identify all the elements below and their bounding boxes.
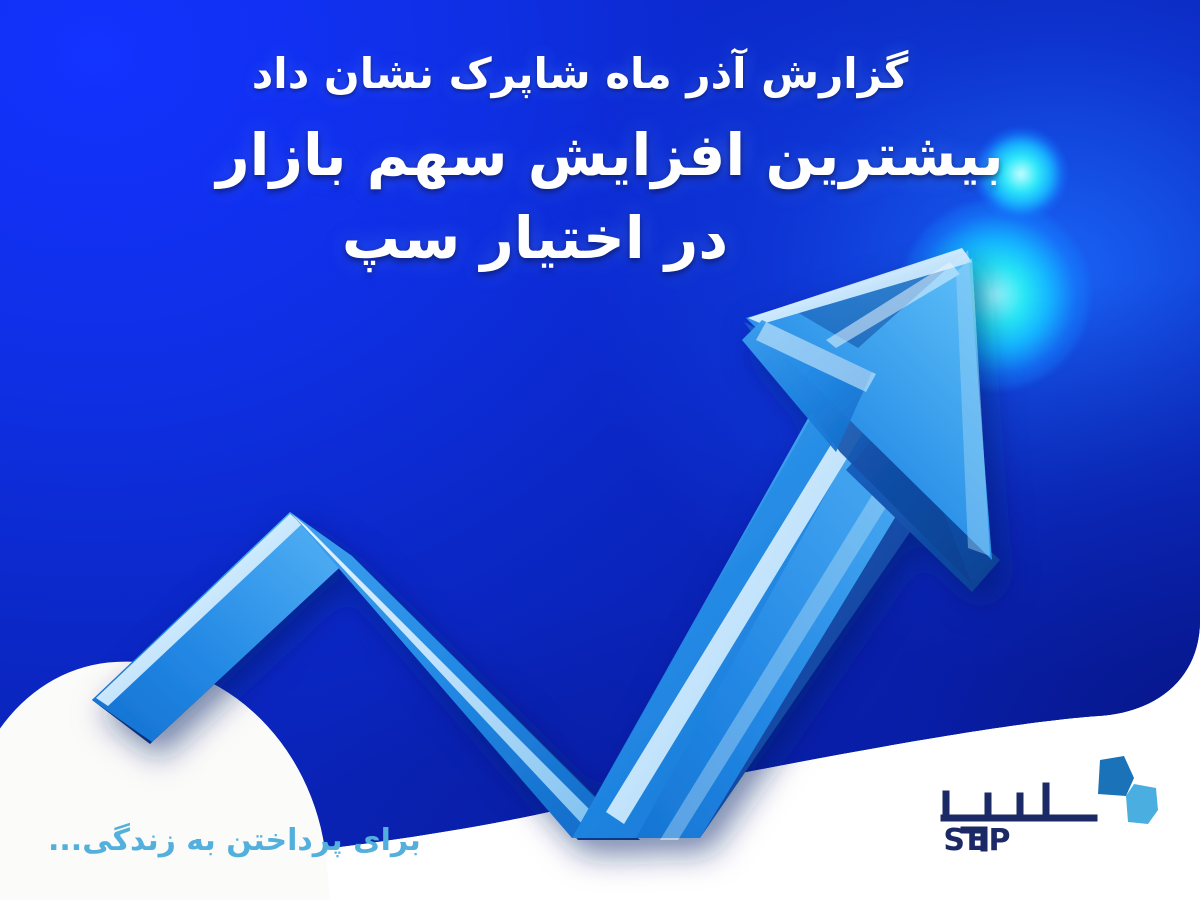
headline-block: گزارش آذر ماه شاپرک نشان داد بیشترین افز… (0, 0, 1200, 279)
tagline-text: برای پرداختن به زندگی... (48, 823, 421, 858)
kicker-text: گزارش آذر ماه شاپرک نشان داد (0, 0, 1200, 102)
sep-logo: SEP (928, 752, 1158, 862)
headline-line-1: بیشترین افزایش سهم بازار (216, 121, 1003, 189)
promo-banner: گزارش آذر ماه شاپرک نشان داد بیشترین افز… (0, 0, 1200, 900)
headline-line-2: در اختیار سپ (60, 197, 1160, 279)
logo-pentagon-icons (1098, 756, 1158, 824)
page-title: بیشترین افزایش سهم بازار در اختیار سپ (0, 102, 1200, 279)
logo-wordmark-en: SEP (943, 823, 1012, 858)
